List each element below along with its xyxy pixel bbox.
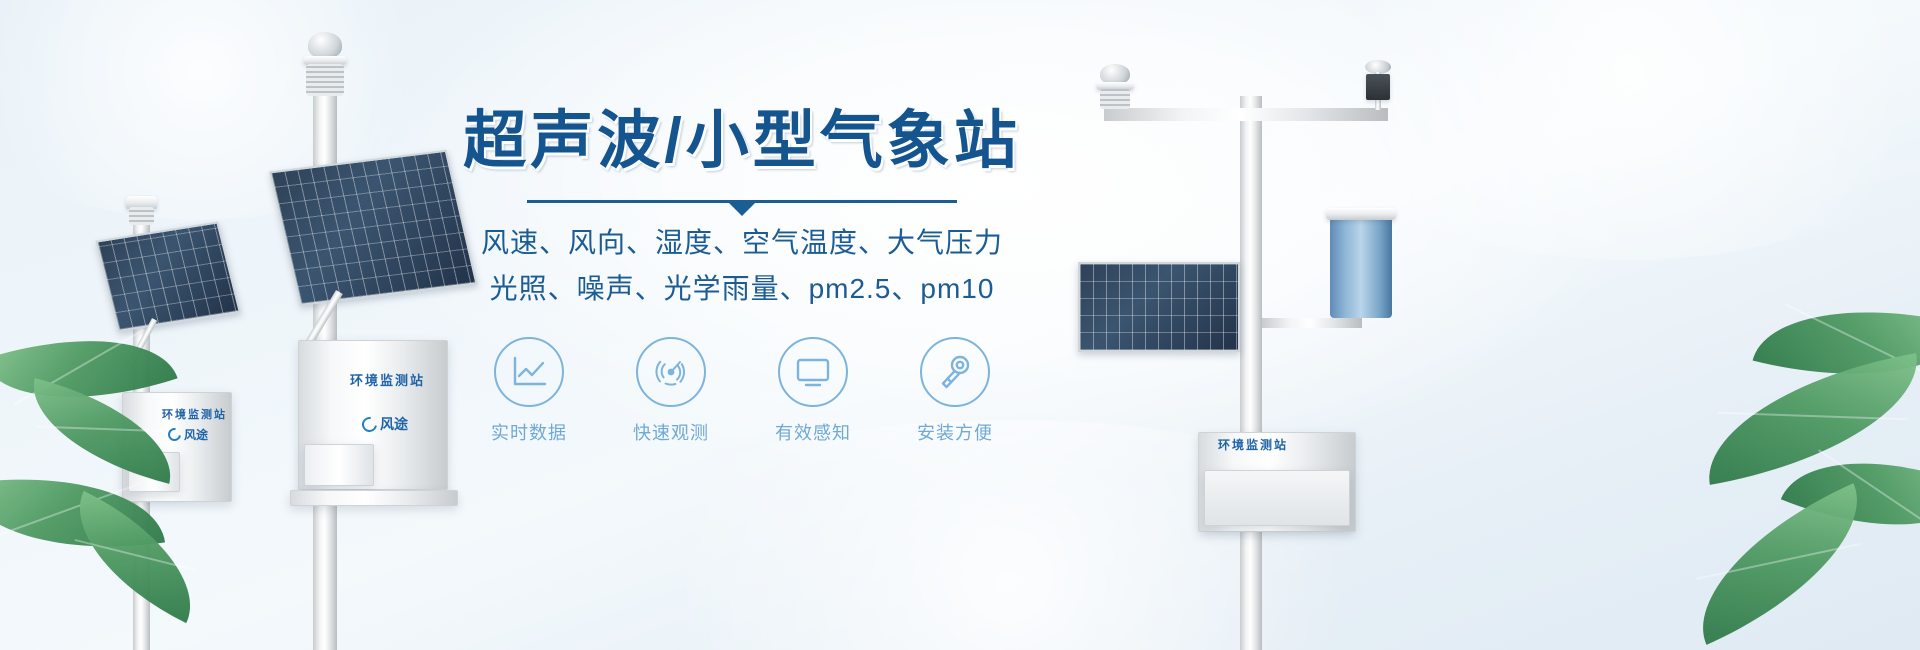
- banner-text-block: 超声波/小型气象站 风速、风向、湿度、空气温度、大气压力 光照、噪声、光学雨量、…: [452, 108, 1032, 445]
- ultrasonic-sensor-dome: [308, 32, 342, 58]
- gauge-bracket: [1262, 318, 1362, 328]
- solar-panel: [269, 150, 478, 306]
- enclosure-label: 环境监测站: [1218, 436, 1288, 453]
- solar-panel: [95, 221, 241, 332]
- title-divider: [527, 200, 957, 220]
- radiation-shield: [1100, 89, 1130, 109]
- feature-label: 快速观测: [621, 419, 721, 445]
- enclosure-label: 环境监测站: [162, 406, 227, 422]
- feature-label: 实时数据: [479, 419, 579, 445]
- enclosure-base: [290, 490, 458, 506]
- brand-name: 风途: [184, 426, 208, 443]
- gauge-rim: [1326, 208, 1396, 220]
- enclosure-lower-panel: [304, 444, 374, 486]
- wind-vane: [1366, 74, 1390, 100]
- cross-arm: [1104, 108, 1388, 121]
- product-banner: 环境监测站 风途 环境监测站 风途 超声波/小型气象站: [0, 0, 1920, 650]
- brand-name: 风途: [380, 414, 408, 434]
- page-title: 超声波/小型气象站: [452, 108, 1032, 174]
- divider-arrow-icon: [729, 203, 755, 216]
- feature-label: 有效感知: [763, 419, 863, 445]
- ultrasonic-anemometer: [1100, 64, 1130, 84]
- rain-gauge: [1330, 214, 1392, 318]
- feature-item-easy-install[interactable]: 安装方便: [905, 337, 1005, 445]
- monitor-icon: [778, 337, 848, 407]
- radiation-shield: [129, 207, 154, 225]
- wrench-icon: [920, 337, 990, 407]
- solar-panel: [1078, 262, 1240, 352]
- enclosure-lower-panel: [1204, 470, 1350, 526]
- feature-item-quick-observation[interactable]: 快速观测: [621, 337, 721, 445]
- feature-item-realtime-data[interactable]: 实时数据: [479, 337, 579, 445]
- brand-logo: 风途: [168, 426, 208, 443]
- subtitle-line-1: 风速、风向、湿度、空气温度、大气压力: [452, 220, 1032, 265]
- leaf-decor: [1671, 483, 1890, 645]
- subtitle-line-2: 光照、噪声、光学雨量、pm2.5、pm10: [452, 266, 1032, 311]
- brand-logo: 风途: [362, 414, 408, 434]
- feature-item-effective-sensing[interactable]: 有效感知: [763, 337, 863, 445]
- radiation-shield: [306, 64, 344, 96]
- feature-label: 安装方便: [905, 419, 1005, 445]
- radar-scan-icon: [636, 337, 706, 407]
- brand-mark-icon: [359, 414, 380, 435]
- line-chart-icon: [494, 337, 564, 407]
- feature-list: 实时数据 快速观测: [452, 337, 1032, 445]
- mast-pole: [1240, 96, 1262, 650]
- enclosure-label: 环境监测站: [350, 370, 425, 389]
- brand-mark-icon: [165, 425, 183, 443]
